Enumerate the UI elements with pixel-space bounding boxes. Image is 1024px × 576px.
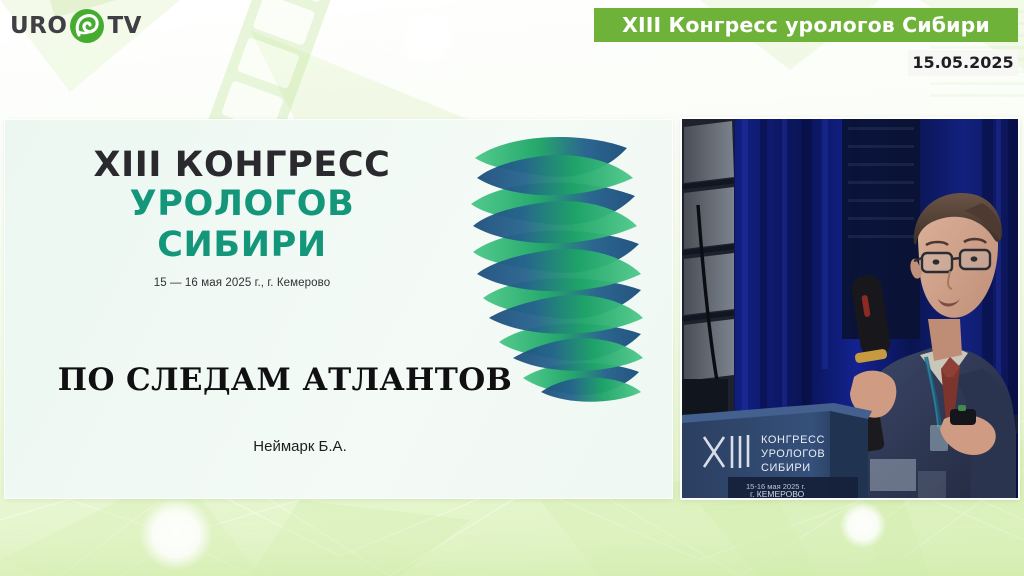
slide-congress-line-3: СИБИРИ <box>27 225 457 266</box>
broadcast-date-badge: 15.05.2025 <box>908 50 1018 76</box>
broadcast-stage: URO TV XIII Конгресс урологов Сибири 15.… <box>0 0 1024 576</box>
channel-logo[interactable]: URO TV <box>10 5 142 47</box>
podium-line-2: УРОЛОГОВ <box>761 448 825 460</box>
logo-text-tv: TV <box>107 15 142 38</box>
broadcast-date-text: 15.05.2025 <box>912 55 1013 71</box>
podium-line-3: СИБИРИ <box>761 462 811 474</box>
slide-congress-prefix: XIII КОНГРЕСС <box>27 147 457 184</box>
slide-author: Неймарк Б.А. <box>5 438 595 455</box>
live-video-panel[interactable]: КОНГРЕСС УРОЛОГОВ СИБИРИ 15-16 мая 2025 … <box>682 119 1018 498</box>
slide-dateline: 15 — 16 мая 2025 г., г. Кемерово <box>27 277 457 289</box>
podium-line-1: КОНГРЕСС <box>761 434 825 446</box>
urotv-circle-icon <box>69 8 105 44</box>
slide-headline: ПО СЛЕДАМ АТЛАНТОВ <box>5 362 565 398</box>
slide-congress-line-2: УРОЛОГОВ <box>27 184 457 225</box>
light-glow-icon-top <box>398 10 456 68</box>
podium-sub-city: г. КЕМЕРОВО <box>750 489 805 498</box>
slide-congress-block: XIII КОНГРЕСС УРОЛОГОВ СИБИРИ 15 — 16 ма… <box>27 147 457 289</box>
header-title-text: XIII Конгресс урологов Сибири <box>622 15 990 36</box>
header-title-bar: XIII Конгресс урологов Сибири <box>594 8 1018 42</box>
light-glow-icon-bottom-right <box>840 502 886 548</box>
presenter-icon: КОНГРЕСС УРОЛОГОВ СИБИРИ 15-16 мая 2025 … <box>682 119 1018 498</box>
presentation-slide-panel[interactable]: XIII КОНГРЕСС УРОЛОГОВ СИБИРИ 15 — 16 ма… <box>5 120 672 498</box>
light-glow-icon-bottom <box>140 498 212 570</box>
logo-text-uro: URO <box>10 15 67 38</box>
